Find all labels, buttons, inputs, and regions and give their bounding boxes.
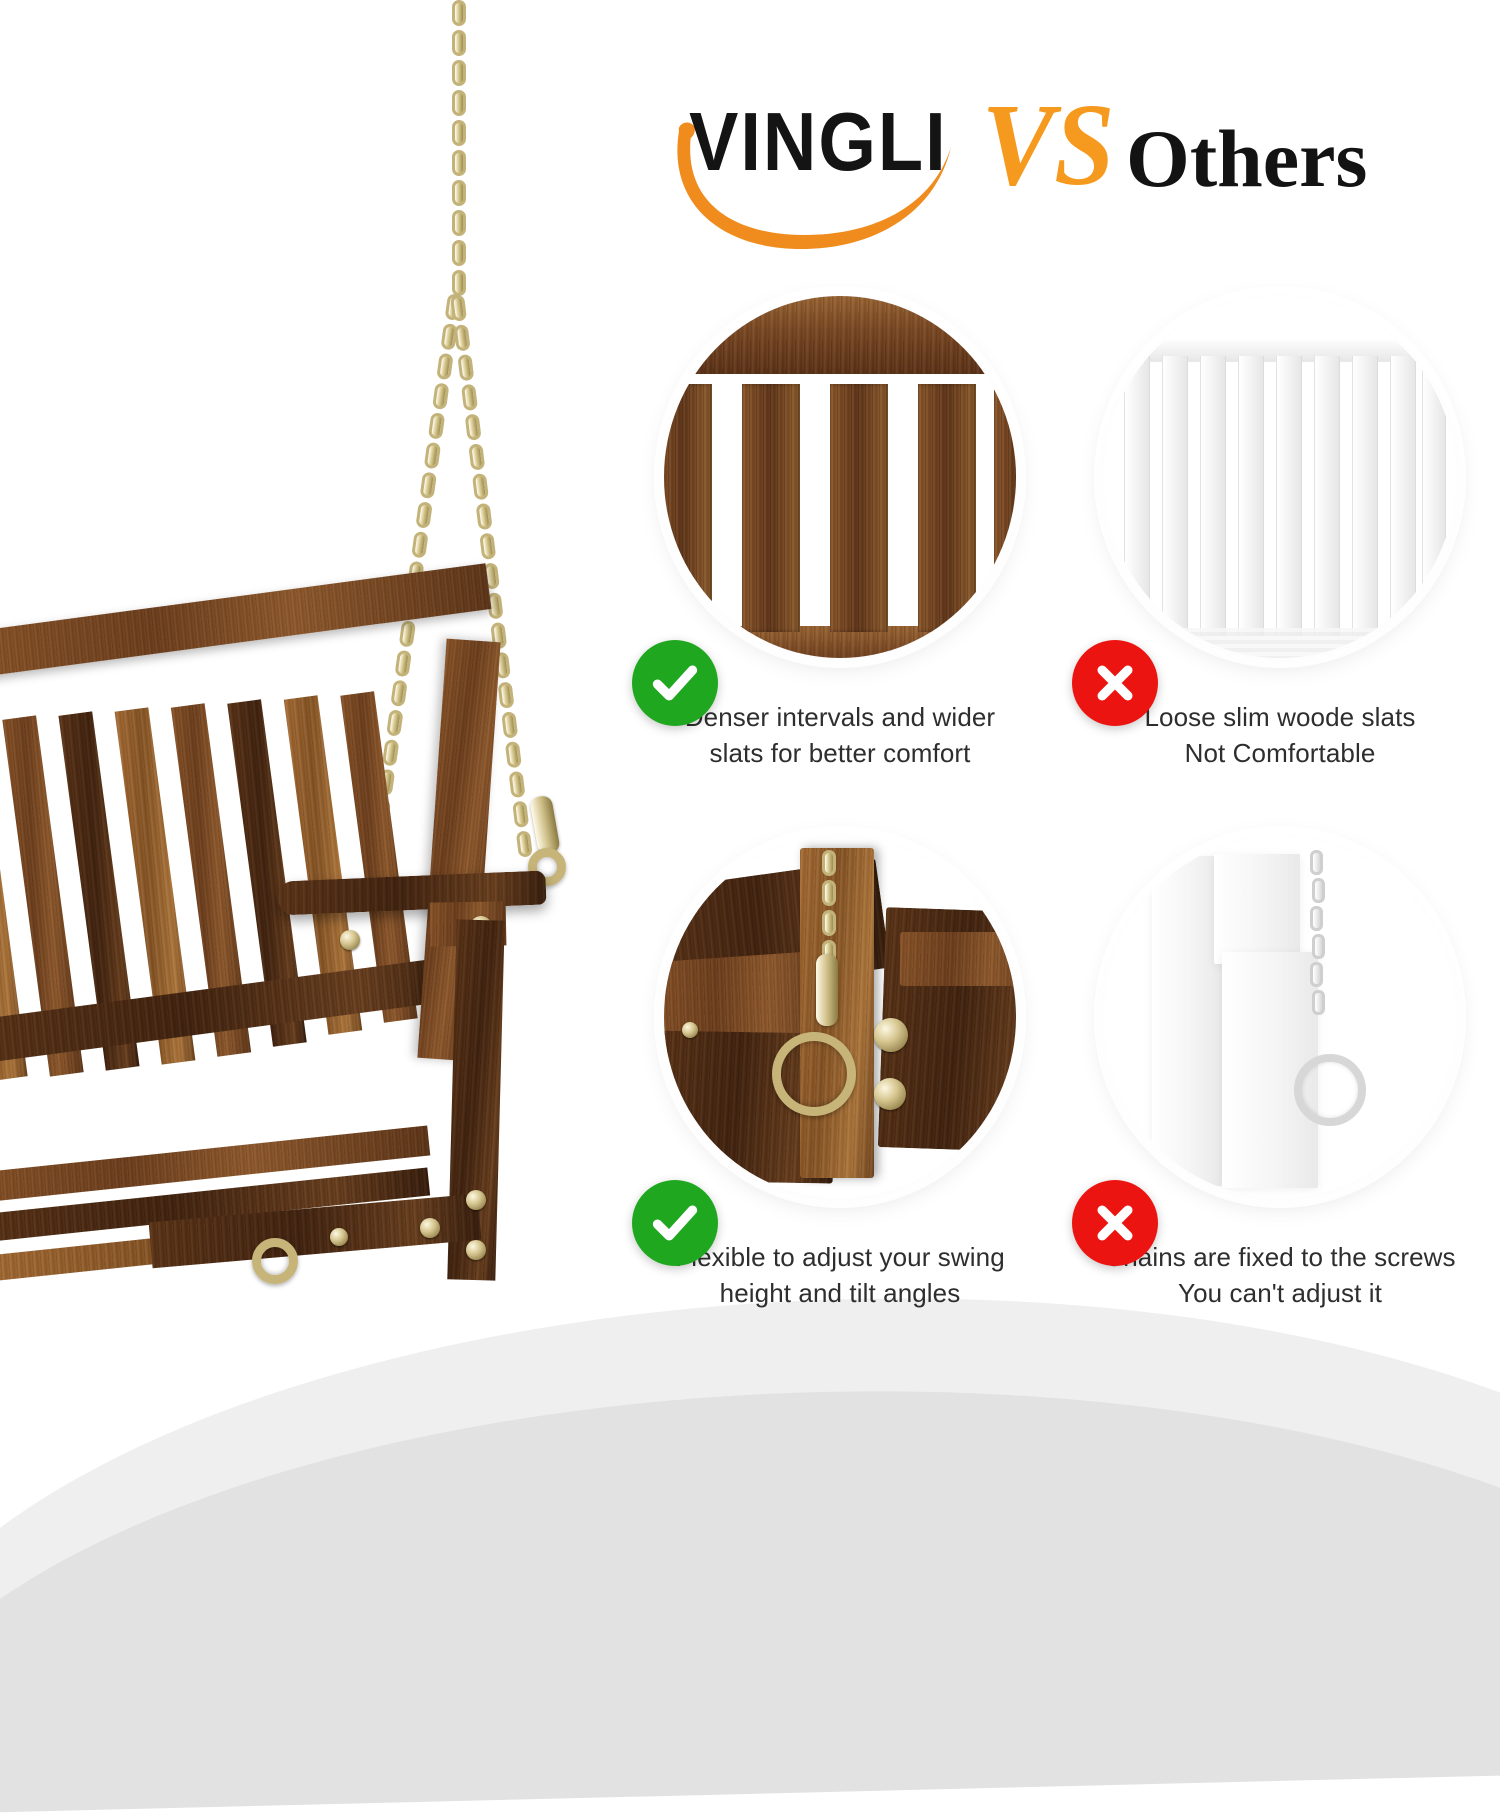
competitor-name: Others: [1126, 118, 1367, 200]
verdict-badge-bad-slats: [1072, 640, 1158, 726]
vingli-brand-lockup: VINGLI: [665, 105, 962, 201]
caption-line-2: You can't adjust it: [1060, 1276, 1500, 1312]
brand-name: VINGLI: [689, 101, 948, 184]
cross-icon: [1087, 1195, 1143, 1251]
adjustable-eye-ring: [772, 1032, 856, 1116]
comparison-cell-slats-good: Denser intervals and wider slats for bet…: [620, 280, 1060, 750]
caption-line-2: slats for better comfort: [620, 736, 1060, 772]
caption-line-2: Not Comfortable: [1060, 736, 1500, 772]
seat-frame-screw-1: [330, 1228, 348, 1246]
verdict-badge-bad-chain: [1072, 1180, 1158, 1266]
adjustable-chain-hardware-photo: [664, 836, 1016, 1198]
bubble-slats-bad: [1104, 296, 1456, 658]
bubble-chain-bad: [1104, 836, 1456, 1198]
dark-wood-wide-slats-photo: [664, 296, 1016, 658]
seat-frame-screw-3: [466, 1190, 486, 1210]
brand-comparison-logo: VINGLI VS Others: [665, 78, 1405, 228]
verdict-badge-good-slats: [632, 640, 718, 726]
armrest-screw-1: [340, 930, 360, 950]
comparison-cell-slats-bad: Loose slim woode slats Not Comfortable: [1060, 280, 1500, 750]
comparison-cell-chain-good: Flexible to adjust your swing height and…: [620, 820, 1060, 1290]
fixed-chain-screws-photo: [1104, 836, 1456, 1198]
caption-line-2: height and tilt angles: [620, 1276, 1060, 1312]
comparison-cell-chain-bad: Chains are fixed to the screws You can't…: [1060, 820, 1500, 1290]
verdict-badge-good-chain: [632, 1180, 718, 1266]
background-sweep-lower: [0, 1368, 1500, 1816]
bubble-slats-good: [664, 296, 1016, 658]
slat-reflection: [1114, 628, 1444, 658]
bubble-chain-good: [664, 836, 1016, 1198]
fixed-chain-ring: [1294, 1054, 1366, 1126]
check-icon: [647, 1195, 703, 1251]
swing-bottom-eye-ring: [252, 1238, 298, 1284]
seat-frame-screw-2: [420, 1218, 440, 1238]
check-icon: [647, 655, 703, 711]
white-thin-slats-photo: [1104, 296, 1456, 658]
comparison-grid: Denser intervals and wider slats for bet…: [620, 280, 1500, 1340]
cross-icon: [1087, 655, 1143, 711]
vs-separator: VS: [981, 86, 1114, 204]
seat-frame-screw-4: [466, 1240, 486, 1260]
porch-swing-product-photo: [0, 0, 620, 1400]
